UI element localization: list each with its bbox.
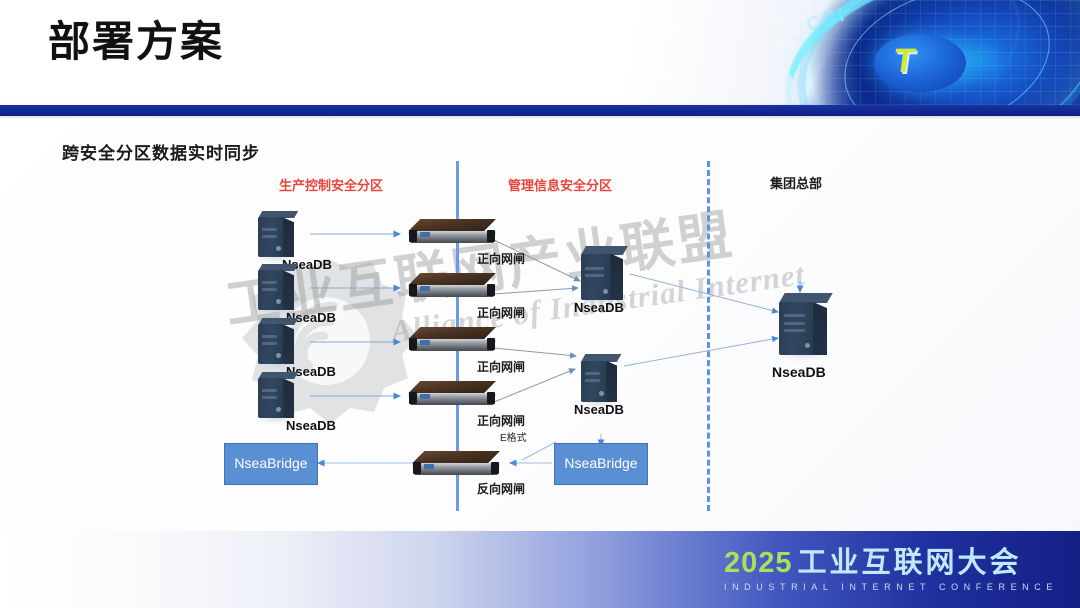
gateway-rack-reverse[interactable] [412,451,500,475]
server-label-mid-1: NseaDB [574,301,624,315]
rack-cap-right [487,338,495,350]
header-tech-graphic: CBI T [770,0,1080,106]
slide-header: CBI T 部署方案 [0,0,1080,106]
rack-indicator-icon [420,340,430,345]
slide-canvas: CBI T 部署方案 跨安全分区数据实时同步 工业互联网产业联盟 Allianc… [0,0,1080,608]
server-slot [784,322,805,325]
gateway-label-forward-3: 正向网闸 [477,360,525,374]
nsea-bridge-left[interactable]: NseaBridge [224,443,318,485]
server-slot [585,372,601,375]
rack-lid [408,219,496,231]
rack-cap-left [409,338,417,350]
server-slot [784,314,805,317]
server-node-mid-2[interactable] [581,354,617,402]
server-node-mid-1[interactable] [581,246,623,300]
server-side [813,302,827,355]
server-node-source-4[interactable] [258,372,294,418]
nsea-bridge-right[interactable]: NseaBridge [554,443,648,485]
format-label: E格式 [500,433,527,445]
rack-lid [412,451,500,463]
rack-indicator-icon [420,394,430,399]
rack-cap-right [487,230,495,242]
slide-footer: 2025 工业互联网大会 INDUSTRIAL INTERNET CONFERE… [0,531,1080,608]
server-led-icon [805,343,810,348]
server-label-mid-2: NseaDB [574,403,624,417]
server-node-source-1[interactable] [258,211,294,257]
server-side [283,324,294,364]
slide-body: 跨安全分区数据实时同步 工业互联网产业联盟 Alliance of Indust… [0,116,1080,531]
header-logo-orb [874,34,966,92]
rack-cap-right [491,462,499,474]
server-slot [585,379,601,382]
header-divider-bar [0,105,1080,116]
rack-lid [408,381,496,393]
connector-arrows-layer [0,116,1080,531]
gateway-label-forward-2: 正向网闸 [477,306,525,320]
gateway-rack-forward-4[interactable] [408,381,496,405]
gateway-label-forward-1: 正向网闸 [477,252,525,266]
server-slot [262,342,278,345]
server-slot [262,396,278,399]
server-slot [784,329,805,332]
rack-cap-right [487,284,495,296]
conference-name-en: INDUSTRIAL INTERNET CONFERENCE [724,583,1058,592]
rack-indicator-icon [424,464,434,469]
gateway-rack-forward-3[interactable] [408,327,496,351]
conference-year: 2025 [724,549,793,578]
rack-cap-left [409,284,417,296]
gateway-rack-forward-1[interactable] [408,219,496,243]
server-side [610,254,623,300]
server-side [283,270,294,310]
rack-lid [408,327,496,339]
conference-name-cn: 工业互联网大会 [797,549,1021,578]
gateway-label-reverse: 反向网闸 [477,482,525,496]
server-led-icon [603,289,608,294]
rack-indicator-icon [420,232,430,237]
header-t-logo-icon: T [892,44,918,78]
rack-cap-left [409,392,417,404]
server-slot [585,267,603,270]
server-node-source-3[interactable] [258,318,294,364]
server-node-headquarters[interactable] [779,293,827,355]
gateway-rack-forward-2[interactable] [408,273,496,297]
server-label-headquarters: NseaDB [772,365,826,380]
server-slot [262,235,278,238]
server-side [283,217,294,257]
rack-cap-right [487,392,495,404]
rack-lid [408,273,496,285]
page-title: 部署方案 [48,20,224,64]
rack-cap-left [409,230,417,242]
server-slot [585,274,603,277]
server-node-source-2[interactable] [258,264,294,310]
server-label-source-4: NseaDB [286,419,336,433]
server-side [606,361,617,402]
server-slot [262,288,278,291]
rack-cap-left [413,462,421,474]
server-side [283,378,294,418]
gateway-label-forward-4: 正向网闸 [477,414,525,428]
rack-indicator-icon [420,286,430,291]
conference-logo: 2025 工业互联网大会 INDUSTRIAL INTERNET CONFERE… [724,549,1058,592]
